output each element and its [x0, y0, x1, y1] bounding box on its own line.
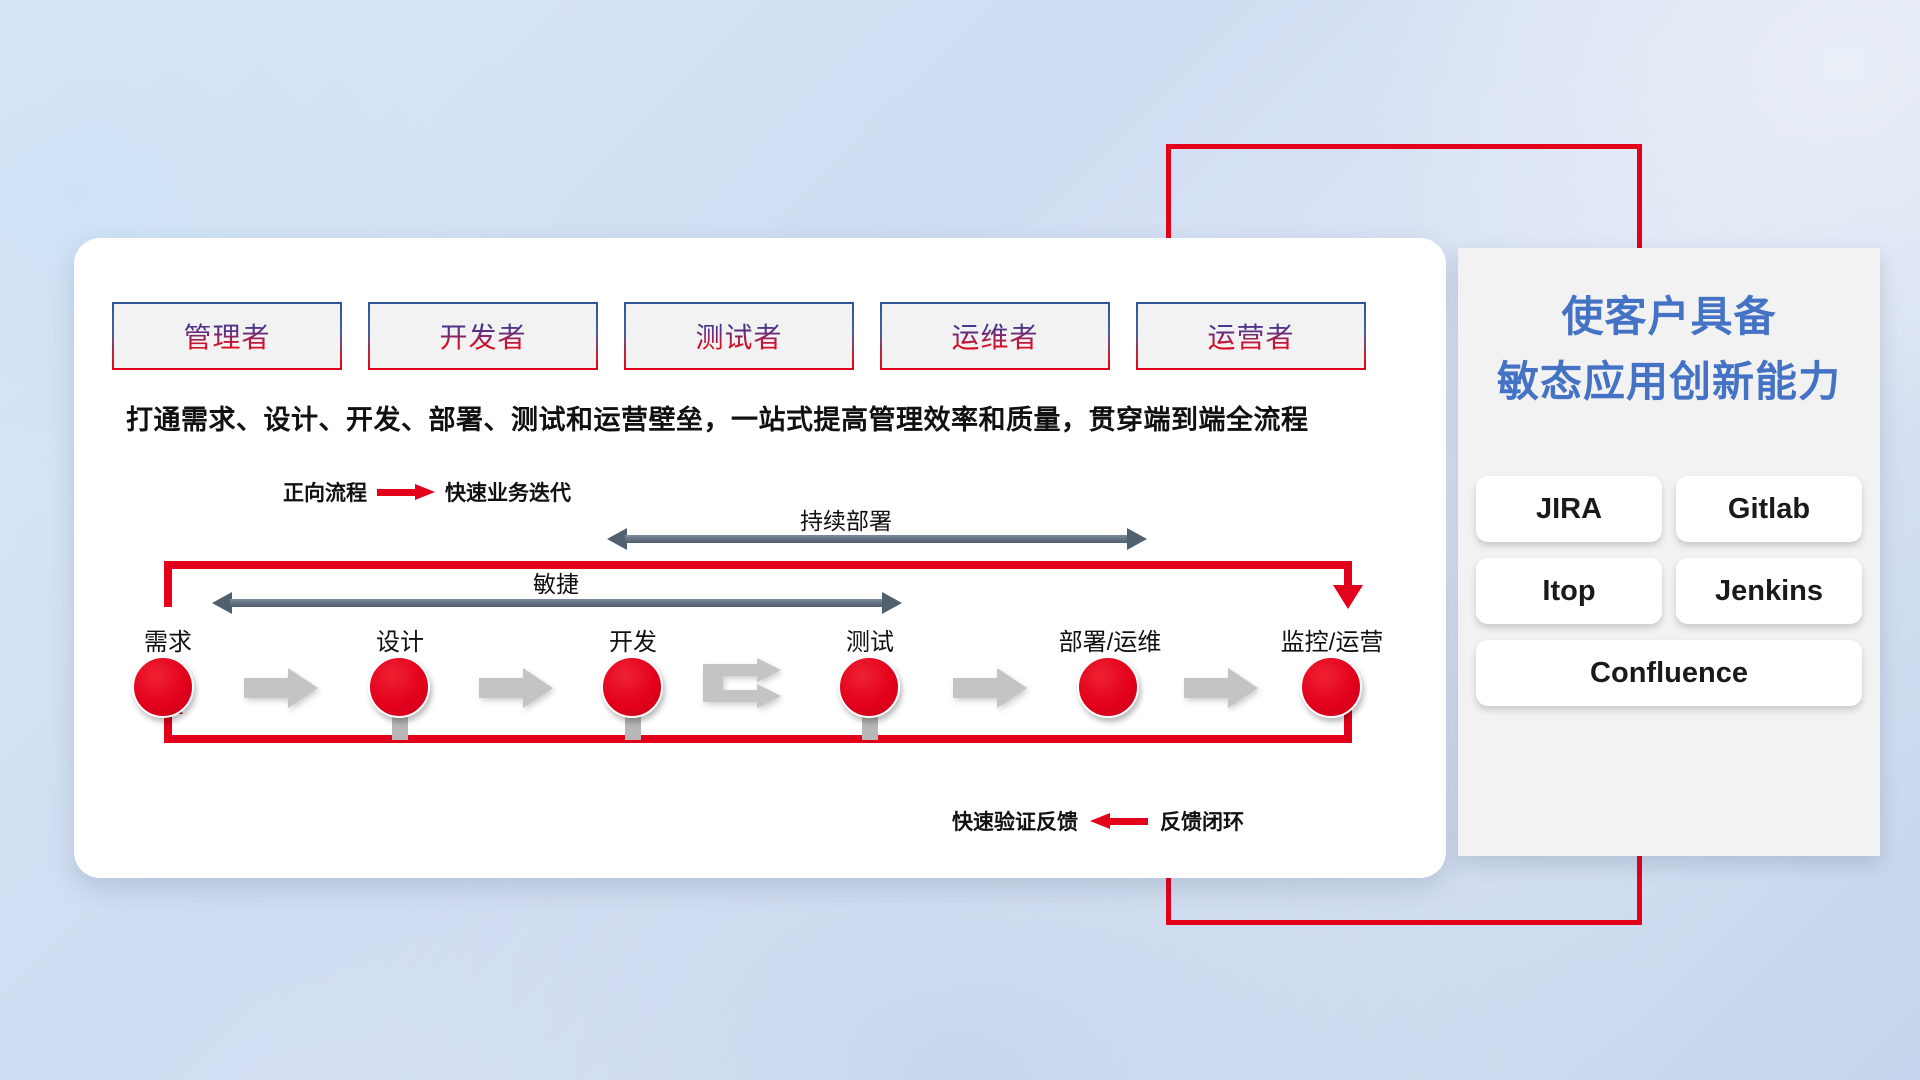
- panel-title-line-1: 使客户具备: [1458, 284, 1880, 349]
- stage-label-development: 开发: [609, 622, 657, 657]
- arrow-head-right-icon: [882, 592, 902, 614]
- legend-forward-flow: 正向流程 快速业务迭代: [283, 477, 571, 507]
- tool-chip-itop[interactable]: Itop: [1476, 558, 1662, 624]
- stage-label-deploy-ops: 部署/运维: [1059, 622, 1162, 657]
- slide-canvas: 管理者 开发者 测试者 运维者 运营者 打通需求、设计、开发、部署、测试和运营壁…: [0, 0, 1920, 1080]
- panel-title-line-2: 敏态应用创新能力: [1458, 349, 1880, 414]
- tool-list: JIRA Gitlab Itop Jenkins Confluence: [1476, 476, 1862, 706]
- stage-label-requirement: 需求: [144, 622, 192, 657]
- arrow-shaft: [625, 535, 1129, 543]
- legend-feedback-loop: 快速验证反馈 反馈闭环: [952, 806, 1244, 836]
- headline-text: 打通需求、设计、开发、部署、测试和运营壁垒，一站式提高管理效率和质量，贯穿端到端…: [126, 398, 1426, 437]
- role-label: 测试者: [695, 316, 782, 356]
- role-box-manager[interactable]: 管理者: [112, 302, 342, 370]
- value-panel: 使客户具备 敏态应用创新能力 JIRA Gitlab Itop Jenkins …: [1458, 248, 1880, 856]
- flow-arrow-design-to-development: [479, 666, 553, 710]
- panel-title: 使客户具备 敏态应用创新能力: [1458, 284, 1880, 414]
- red-loop-right-descender: [1344, 561, 1352, 587]
- stage-node-deploy-ops[interactable]: [1077, 656, 1139, 718]
- role-label: 管理者: [183, 316, 270, 356]
- legend-feedback-source: 反馈闭环: [1160, 806, 1244, 836]
- red-loop-left-descender: [164, 561, 172, 607]
- flow-arrow-testing-to-deploy: [953, 666, 1027, 710]
- stage-node-design[interactable]: [368, 656, 430, 718]
- stage-label-design: 设计: [376, 622, 424, 657]
- stage-node-development[interactable]: [601, 656, 663, 718]
- role-box-ops[interactable]: 运维者: [880, 302, 1110, 370]
- span-arrow-agile: [212, 592, 902, 614]
- flow-arrow-deploy-to-monitor: [1184, 666, 1258, 710]
- role-box-tester[interactable]: 测试者: [624, 302, 854, 370]
- stage-node-requirement[interactable]: [132, 656, 194, 718]
- red-arrow-right-icon: [377, 484, 435, 500]
- arrow-head-left-icon: [212, 592, 232, 614]
- role-box-operations[interactable]: 运营者: [1136, 302, 1366, 370]
- role-label: 运营者: [1207, 316, 1294, 356]
- legend-forward-target: 快速业务迭代: [445, 477, 571, 507]
- stage-label-monitor-operations: 监控/运营: [1281, 622, 1384, 657]
- red-loop-bottom-bar: [164, 735, 1352, 743]
- flow-arrow-requirement-to-design: [244, 666, 318, 710]
- tool-chip-gitlab[interactable]: Gitlab: [1676, 476, 1862, 542]
- stage-node-monitor-operations[interactable]: [1300, 656, 1362, 718]
- tool-chip-jira[interactable]: JIRA: [1476, 476, 1662, 542]
- red-arrow-left-icon: [1090, 813, 1148, 829]
- arrow-shaft: [230, 599, 884, 607]
- red-loop-down-arrowhead-icon: [1333, 585, 1363, 609]
- role-label: 开发者: [439, 316, 526, 356]
- tool-chip-confluence[interactable]: Confluence: [1476, 640, 1862, 706]
- stage-node-testing[interactable]: [838, 656, 900, 718]
- role-box-row: 管理者 开发者 测试者 运维者 运营者: [112, 302, 1366, 370]
- role-box-developer[interactable]: 开发者: [368, 302, 598, 370]
- red-loop-top-bar: [164, 561, 1352, 569]
- flow-arrow-uturn-development-testing: [701, 656, 801, 718]
- legend-feedback-target: 快速验证反馈: [952, 806, 1078, 836]
- role-label: 运维者: [951, 316, 1038, 356]
- arrow-head-right-icon: [1127, 528, 1147, 550]
- legend-forward-source: 正向流程: [283, 477, 367, 507]
- stage-label-testing: 测试: [846, 622, 894, 657]
- span-arrow-continuous-deploy: [607, 528, 1147, 550]
- tool-chip-jenkins[interactable]: Jenkins: [1676, 558, 1862, 624]
- arrow-head-left-icon: [607, 528, 627, 550]
